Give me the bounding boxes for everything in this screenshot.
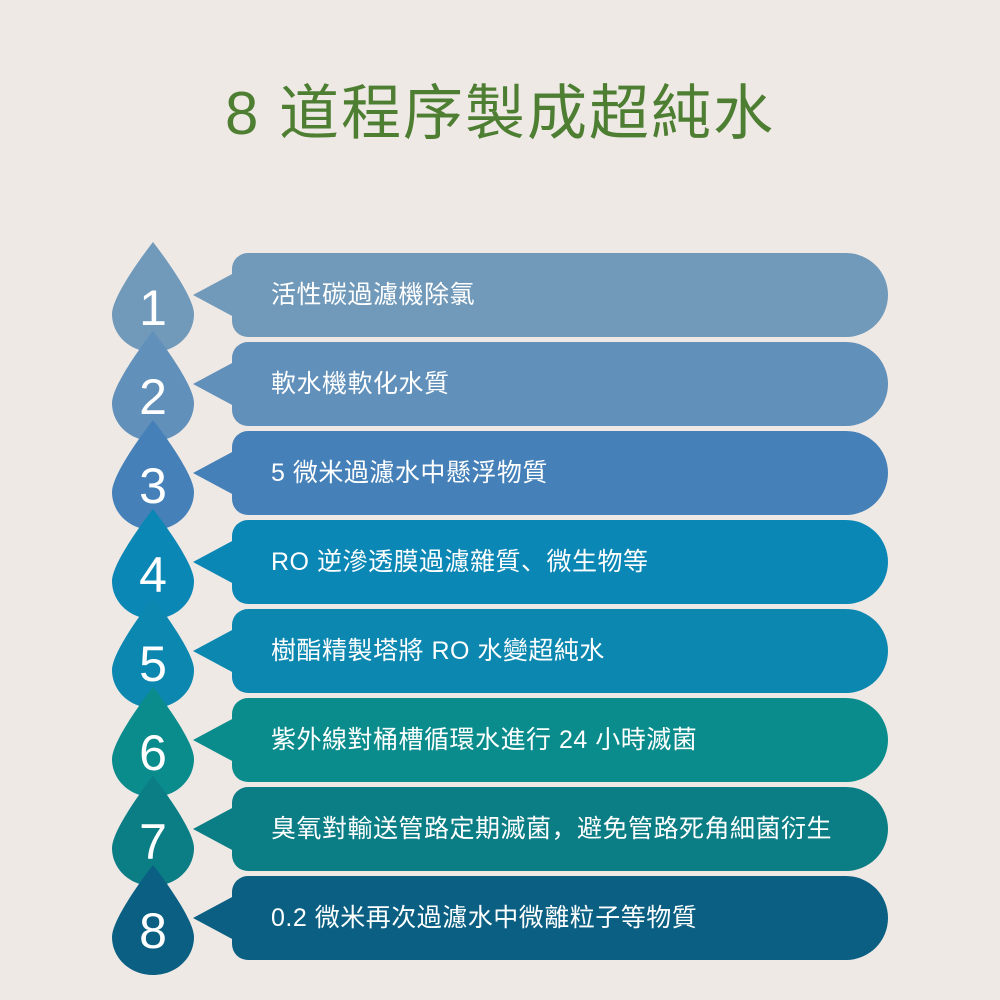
step-description: 活性碳過濾機除氯 [271, 253, 475, 337]
callout-arrow-icon [193, 629, 234, 673]
callout-arrow-icon [193, 718, 234, 762]
callout-arrow-icon [193, 451, 234, 495]
step-callout[interactable]: 0.2 微米再次過濾水中微離粒子等物質 [193, 876, 888, 960]
step-number: 8 [112, 865, 194, 975]
callout-arrow-icon [193, 807, 234, 851]
step-description: 5 微米過濾水中懸浮物質 [271, 431, 548, 515]
process-step[interactable]: 80.2 微米再次過濾水中微離粒子等物質 [0, 865, 1000, 985]
step-callout[interactable]: 5 微米過濾水中懸浮物質 [193, 431, 888, 515]
infographic-root: 8 道程序製成超純水 1活性碳過濾機除氯2軟水機軟化水質35 微米過濾水中懸浮物… [0, 0, 1000, 1000]
step-callout[interactable]: RO 逆滲透膜過濾雜質、微生物等 [193, 520, 888, 604]
callout-arrow-icon [193, 273, 234, 317]
step-callout[interactable]: 活性碳過濾機除氯 [193, 253, 888, 337]
steps-list: 1活性碳過濾機除氯2軟水機軟化水質35 微米過濾水中懸浮物質4RO 逆滲透膜過濾… [0, 0, 1000, 1000]
callout-arrow-icon [193, 540, 234, 584]
step-description: 臭氧對輸送管路定期滅菌，避免管路死角細菌衍生 [271, 787, 832, 871]
step-callout[interactable]: 軟水機軟化水質 [193, 342, 888, 426]
step-description: 軟水機軟化水質 [271, 342, 450, 426]
step-description: RO 逆滲透膜過濾雜質、微生物等 [271, 520, 648, 604]
step-callout[interactable]: 紫外線對桶槽循環水進行 24 小時滅菌 [193, 698, 888, 782]
step-description: 紫外線對桶槽循環水進行 24 小時滅菌 [271, 698, 697, 782]
step-callout[interactable]: 臭氧對輸送管路定期滅菌，避免管路死角細菌衍生 [193, 787, 888, 871]
step-description: 樹酯精製塔將 RO 水變超純水 [271, 609, 605, 693]
callout-arrow-icon [193, 362, 234, 406]
step-description: 0.2 微米再次過濾水中微離粒子等物質 [271, 876, 697, 960]
step-callout[interactable]: 樹酯精製塔將 RO 水變超純水 [193, 609, 888, 693]
callout-arrow-icon [193, 896, 234, 940]
step-droplet-8: 8 [112, 865, 194, 975]
